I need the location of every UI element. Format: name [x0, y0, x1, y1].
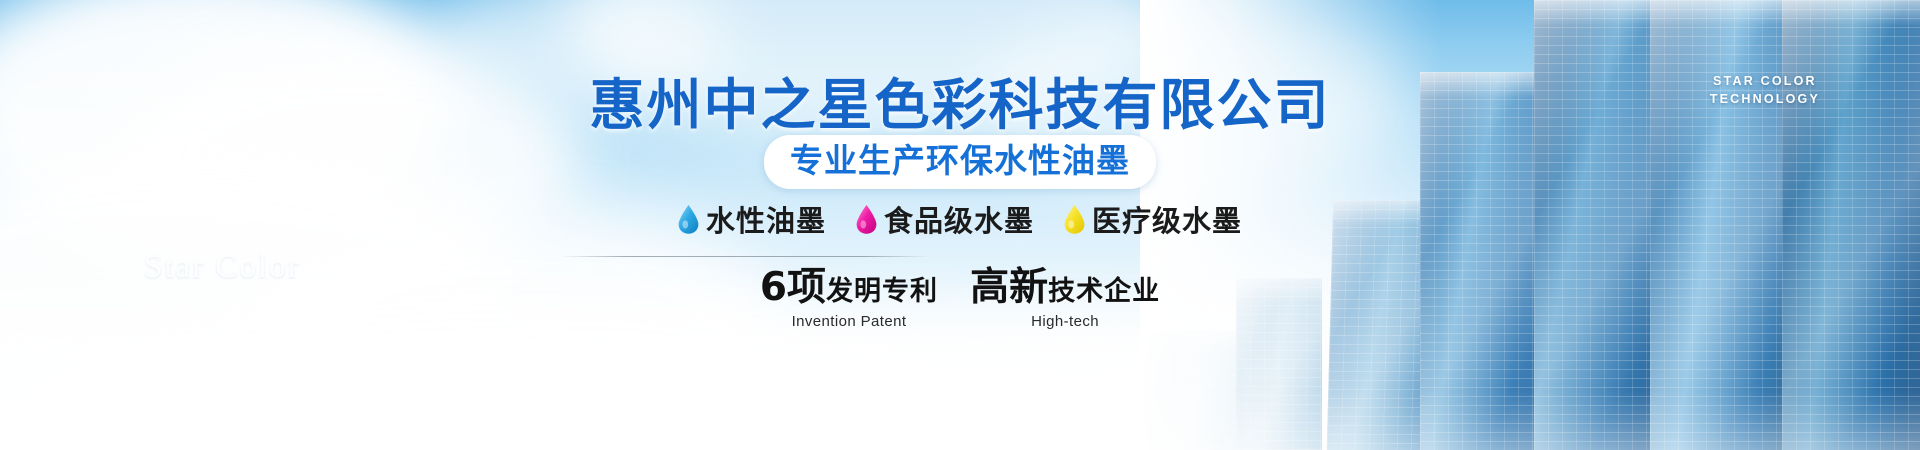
badge-item: 高新技术企业 High-tech [970, 268, 1160, 330]
badge-item: 6项发明专利 Invention Patent [760, 268, 938, 330]
subtitle-pill-wrapper: 专业生产环保水性油墨 [0, 135, 1920, 189]
badge-rest-text: 发明专利 [826, 276, 938, 307]
feature-item: 食品级水墨 [856, 198, 1034, 240]
section-divider [560, 256, 930, 257]
feature-item: 医疗级水墨 [1064, 198, 1242, 240]
feature-list: 水性油墨 食品级水墨 [0, 198, 1920, 240]
banner-content: 惠州中之星色彩科技有限公司 专业生产环保水性油墨 水性油墨 [0, 0, 1920, 450]
water-drop-icon [1064, 205, 1085, 234]
badge-english-caption: Invention Patent [760, 313, 938, 330]
badge-list: 6项发明专利 Invention Patent 高新技术企业 High-tech [0, 268, 1920, 330]
feature-label: 食品级水墨 [884, 198, 1034, 240]
subtitle-pill: 专业生产环保水性油墨 [764, 135, 1156, 189]
subtitle-text: 专业生产环保水性油墨 [790, 141, 1130, 180]
badge-rest-text: 技术企业 [1048, 276, 1160, 307]
company-hero-banner: STAR COLOR TECHNOLOGY Star Color 惠州中之星色彩… [0, 0, 1920, 450]
badge-chinese-line: 6项发明专利 [760, 268, 938, 309]
badge-strong-text: 6项 [760, 265, 826, 310]
badge-english-caption: High-tech [970, 313, 1160, 330]
feature-label: 水性油墨 [706, 198, 826, 240]
company-title: 惠州中之星色彩科技有限公司 [0, 60, 1920, 140]
feature-label: 医疗级水墨 [1092, 198, 1242, 240]
water-drop-icon [678, 205, 699, 234]
badge-strong-text: 高新 [970, 265, 1048, 310]
water-drop-icon [856, 205, 877, 234]
badge-chinese-line: 高新技术企业 [970, 268, 1160, 309]
feature-item: 水性油墨 [678, 198, 826, 240]
